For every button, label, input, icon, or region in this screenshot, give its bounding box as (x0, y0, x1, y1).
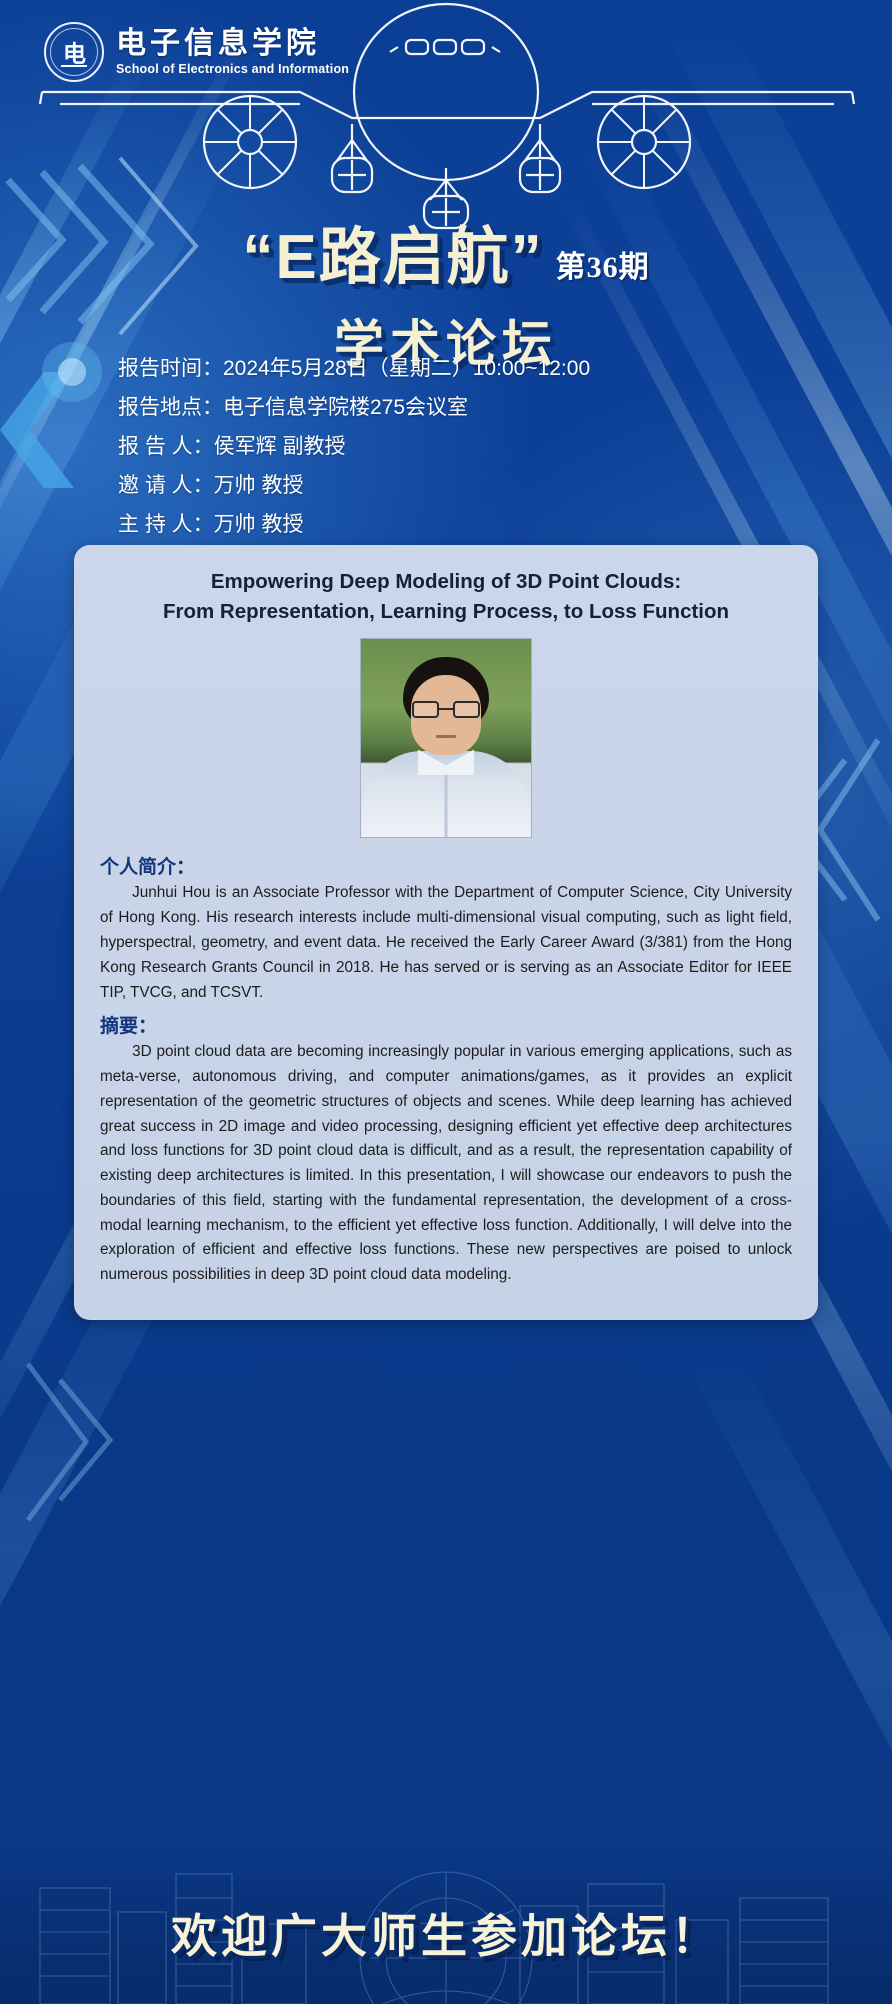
bottom-banner: 欢迎广大师生参加论坛！ (0, 1854, 892, 2004)
info-row-host: 主 持 人：万帅 教授 (118, 514, 590, 535)
content-card: Empowering Deep Modeling of 3D Point Clo… (74, 545, 818, 1320)
abstract-paragraph: 3D point cloud data are becoming increas… (100, 1040, 792, 1288)
info-row-location: 报告地点：电子信息学院楼275会议室 (118, 397, 590, 418)
logo-text: 电子信息学院 School of Electronics and Informa… (116, 28, 349, 77)
university-seal-icon: 电 (44, 22, 104, 82)
talk-title-line-2: From Representation, Learning Process, t… (163, 600, 729, 623)
header-logo: 电 电子信息学院 School of Electronics and Infor… (44, 22, 349, 82)
portrait-mouth (436, 735, 456, 738)
portrait-glasses (412, 701, 480, 718)
forum-title-main: “E路启航” (242, 206, 543, 296)
event-info-list: 报告时间：2024年5月28日（星期二）10:00~12:00 报告地点：电子信… (118, 358, 590, 553)
talk-title-line-1: Empowering Deep Modeling of 3D Point Clo… (211, 570, 681, 593)
org-name-en: School of Electronics and Information (116, 62, 349, 76)
info-row-speaker: 报 告 人：侯军辉 副教授 (118, 436, 590, 457)
abstract-heading: 摘要： (100, 1011, 792, 1038)
poster-title-block: “E路启航” 第36期 学术论坛 (0, 206, 892, 376)
org-name-cn: 电子信息学院 (116, 28, 349, 60)
title-line-1: “E路启航” 第36期 (242, 206, 649, 296)
bio-heading: 个人简介： (100, 852, 792, 879)
portrait-placket (445, 775, 448, 837)
talk-title: Empowering Deep Modeling of 3D Point Clo… (100, 567, 792, 626)
welcome-message: 欢迎广大师生参加论坛！ (0, 1900, 892, 1966)
seal-glyph: 电 (63, 34, 85, 68)
info-row-time: 报告时间：2024年5月28日（星期二）10:00~12:00 (118, 358, 590, 379)
forum-issue-number: 第36期 (556, 242, 650, 286)
info-row-inviter: 邀 请 人：万帅 教授 (118, 475, 590, 496)
speaker-portrait (360, 638, 532, 838)
poster-root: 电 电子信息学院 School of Electronics and Infor… (0, 0, 892, 2004)
bio-paragraph: Junhui Hou is an Associate Professor wit… (100, 881, 792, 1005)
seal-bar (61, 65, 87, 67)
